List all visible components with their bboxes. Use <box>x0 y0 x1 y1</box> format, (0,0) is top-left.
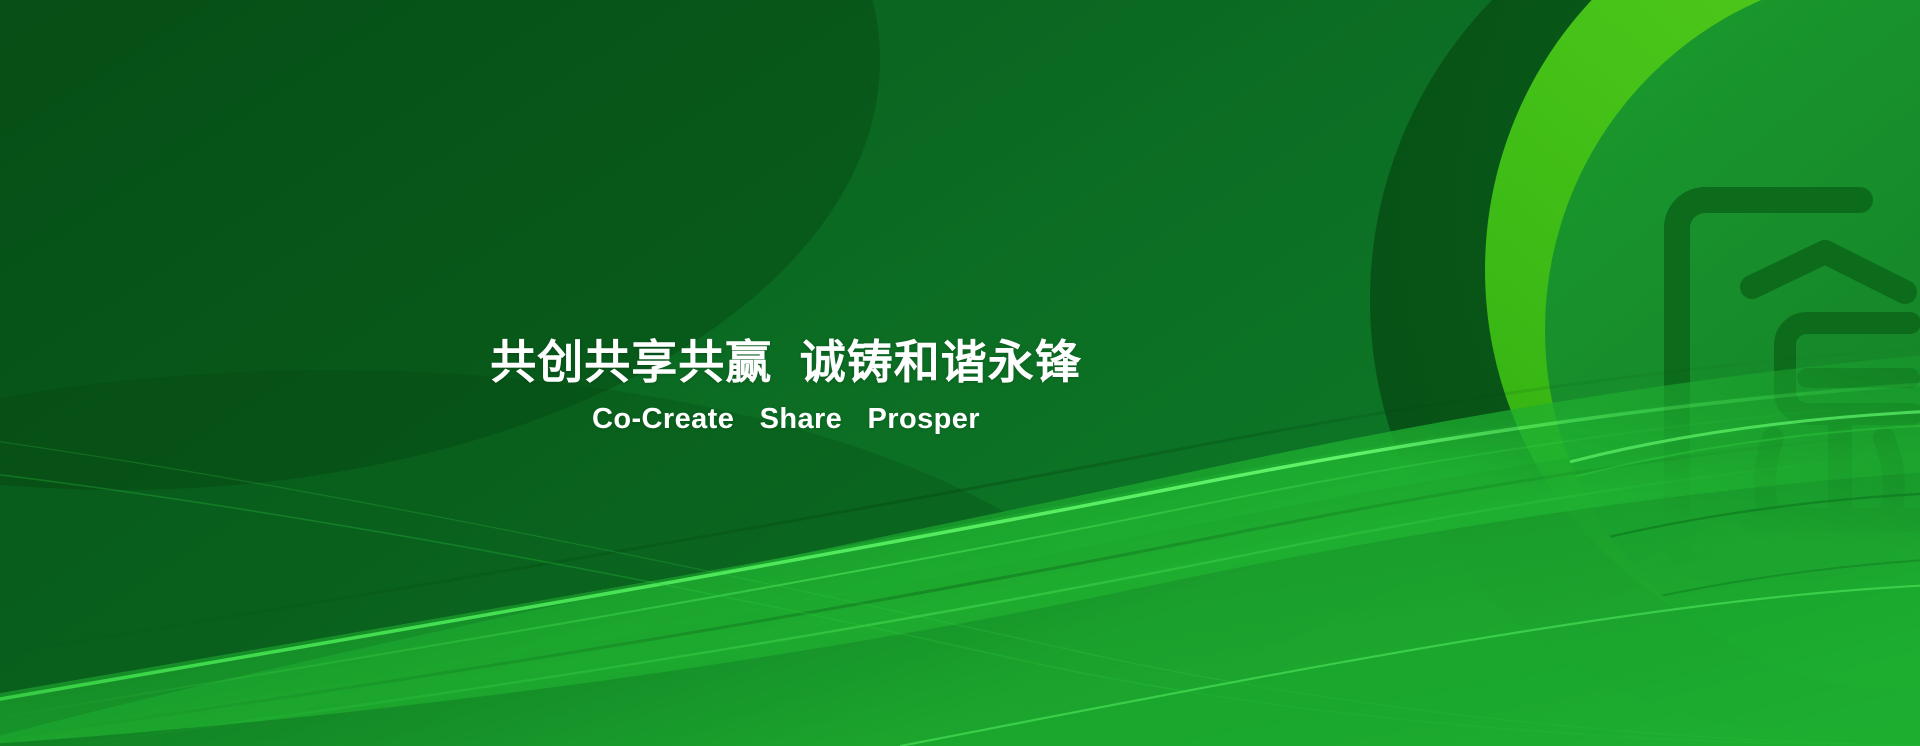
brand-banner: 共创共享共赢 诚铸和谐永锋 Co-Create Share Prosper <box>0 0 1920 746</box>
banner-background-art <box>0 0 1920 746</box>
